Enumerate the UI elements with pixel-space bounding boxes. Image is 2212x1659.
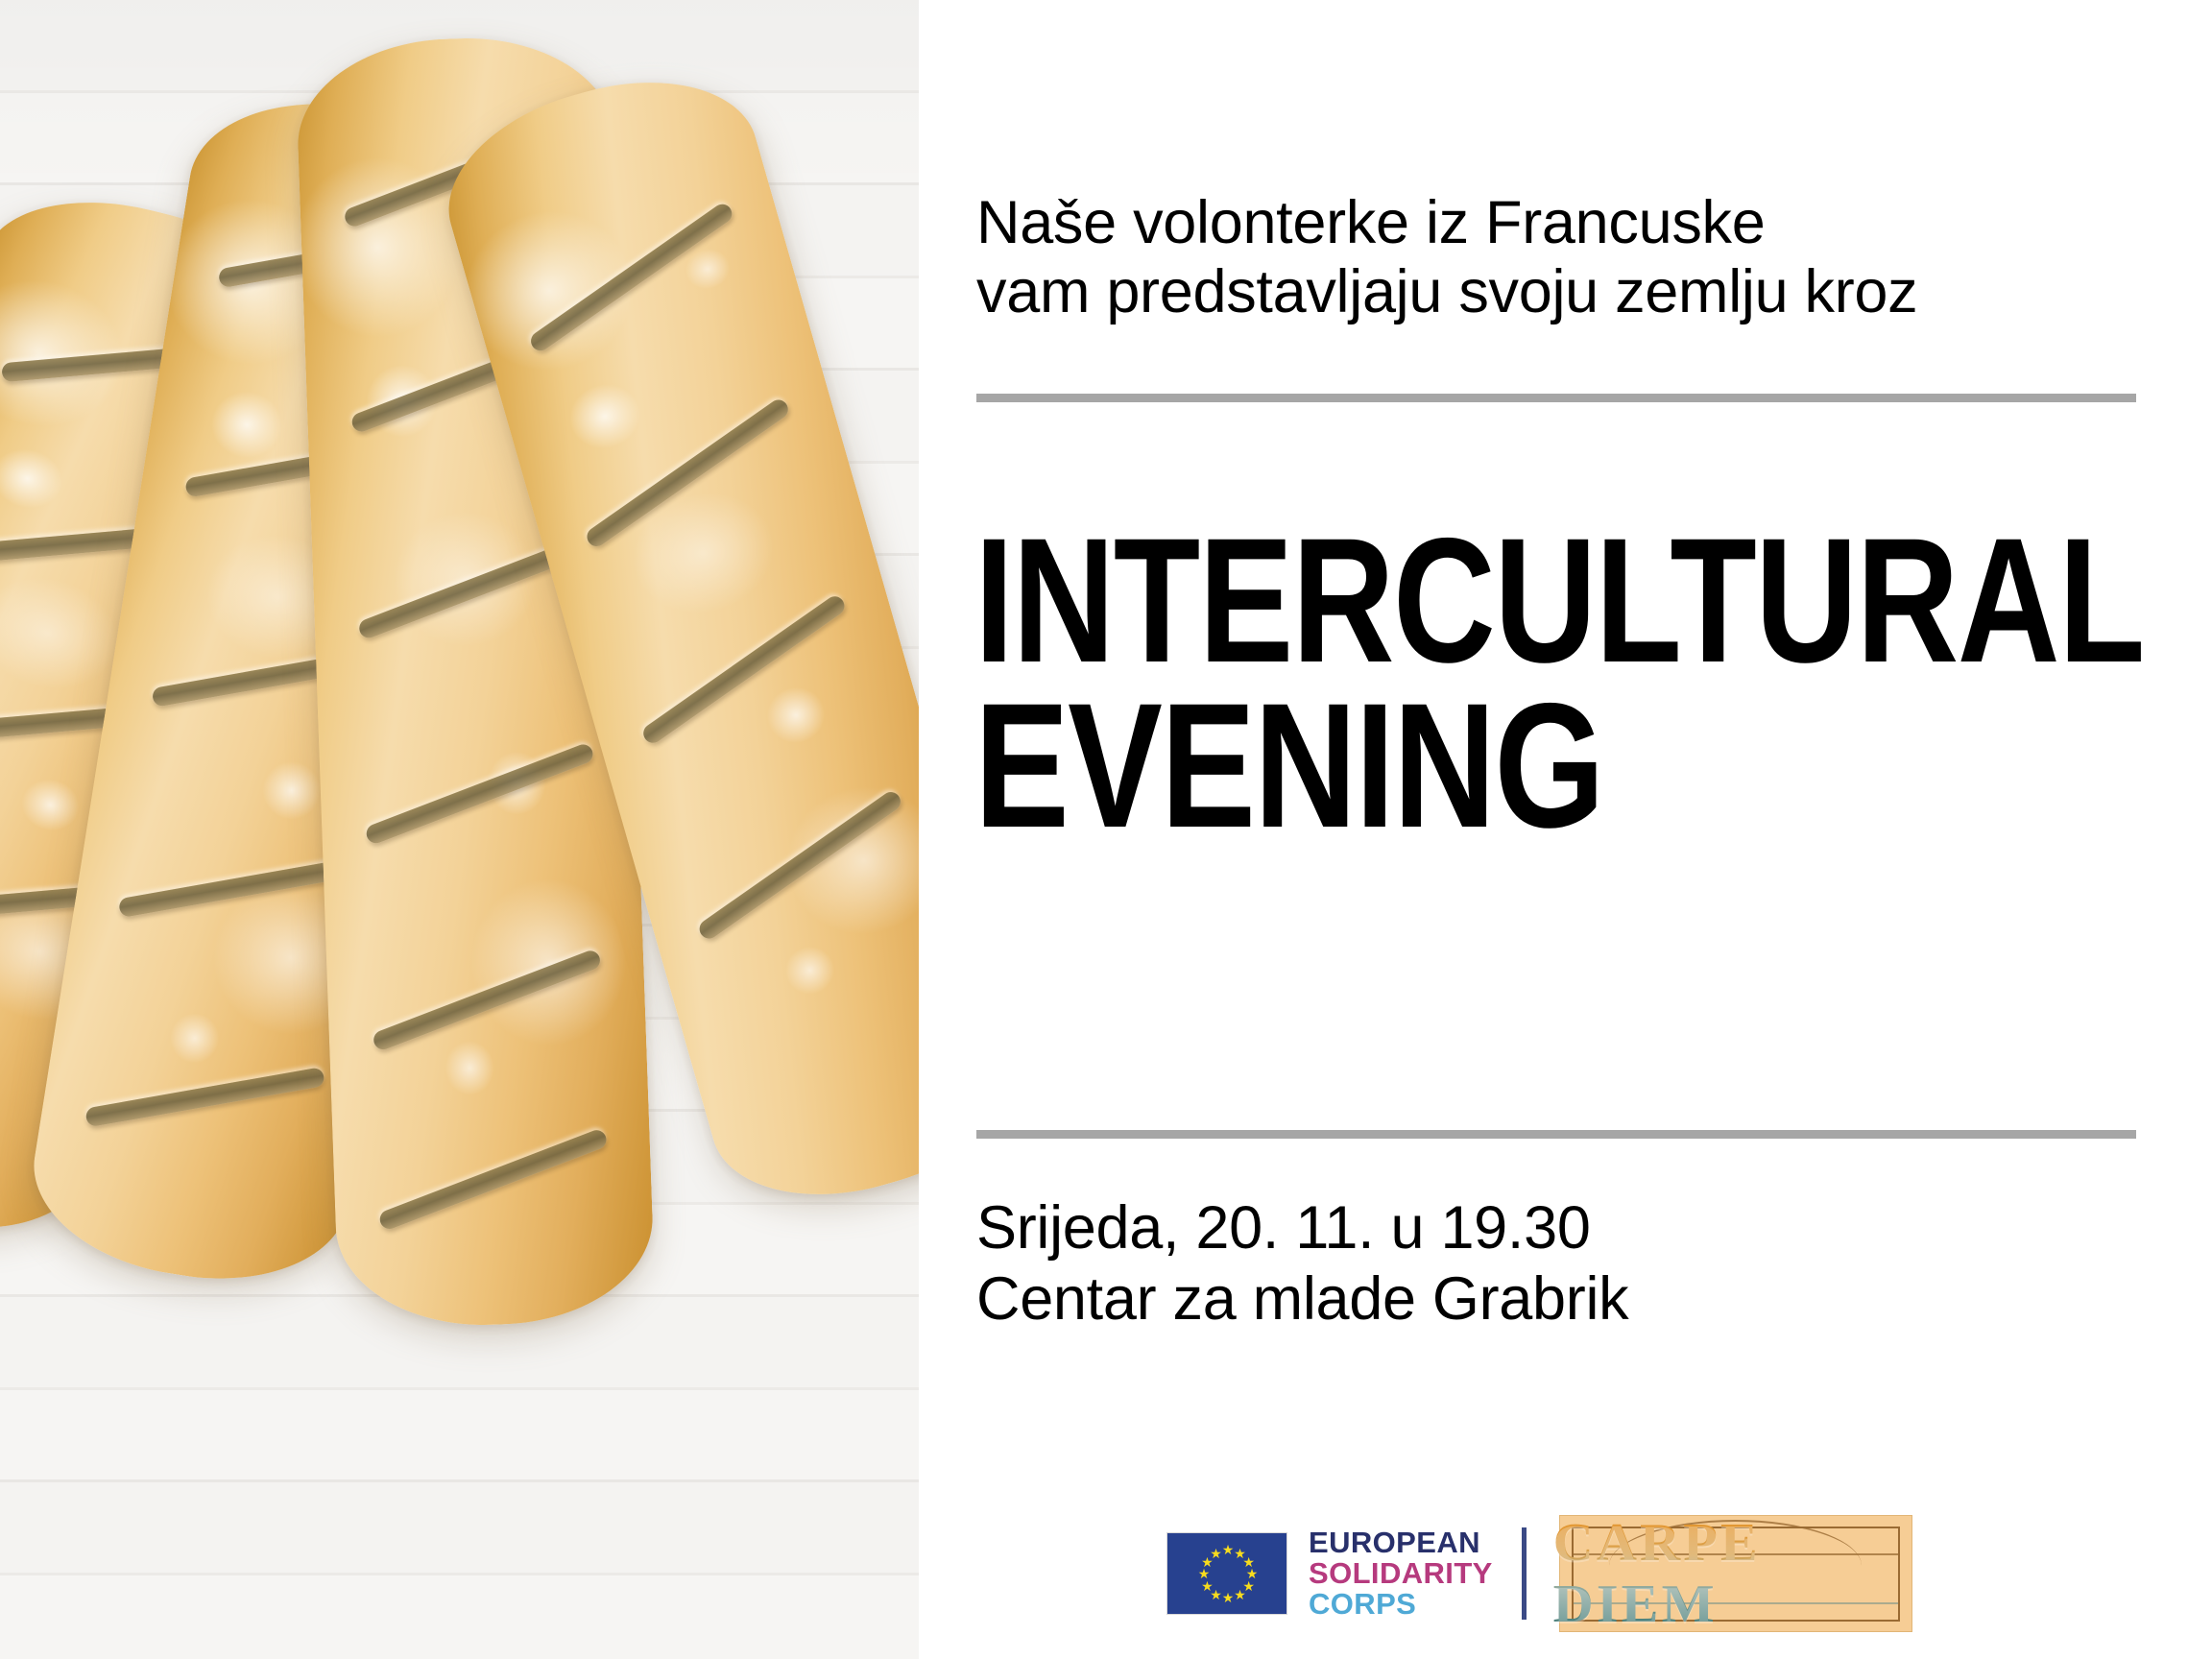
event-datetime: Srijeda, 20. 11. u 19.30	[976, 1192, 1628, 1263]
carpe-diem-wordmark: CARPE DIEM	[1552, 1512, 1918, 1635]
carpe-diem-logo: CARPE DIEM	[1559, 1515, 1912, 1632]
eu-flag-icon: ★★★★★★★★★★★★	[1166, 1532, 1287, 1615]
baguette-photo	[0, 0, 919, 1659]
eu-star-icon: ★	[1222, 1592, 1235, 1604]
headline-line-1: INTERCULTURAL	[974, 518, 1919, 684]
intro-line-2: vam predstavljaju svoju zemlju kroz	[976, 257, 2143, 326]
esc-line-1: EUROPEAN	[1309, 1527, 1493, 1558]
eu-star-icon: ★	[1201, 1580, 1214, 1593]
esc-line-3: CORPS	[1309, 1589, 1493, 1620]
logo-separator	[1522, 1527, 1527, 1620]
headline-line-2: EVENING	[974, 684, 1919, 849]
event-details: Srijeda, 20. 11. u 19.30 Centar za mlade…	[976, 1192, 1628, 1335]
divider-top	[976, 394, 2136, 402]
eu-star-icon: ★	[1210, 1548, 1222, 1560]
event-location: Centar za mlade Grabrik	[976, 1263, 1628, 1334]
european-solidarity-corps-logo: ★★★★★★★★★★★★ EUROPEAN SOLIDARITY CORPS	[1166, 1527, 1493, 1620]
poster-canvas: Naše volonterke iz Francuske vam predsta…	[0, 0, 2212, 1659]
eu-star-icon: ★	[1222, 1544, 1235, 1556]
esc-wordmark: EUROPEAN SOLIDARITY CORPS	[1309, 1527, 1493, 1620]
logo-row: ★★★★★★★★★★★★ EUROPEAN SOLIDARITY CORPS C…	[1166, 1515, 1912, 1632]
headline: INTERCULTURAL EVENING	[974, 518, 2155, 849]
esc-line-2: SOLIDARITY	[1309, 1558, 1493, 1589]
divider-bottom	[976, 1130, 2136, 1139]
intro-line-1: Naše volonterke iz Francuske	[976, 188, 2143, 257]
eu-star-icon: ★	[1234, 1589, 1246, 1601]
content-panel: Naše volonterke iz Francuske vam predsta…	[919, 0, 2212, 1659]
intro-text: Naše volonterke iz Francuske vam predsta…	[976, 188, 2143, 327]
eu-star-icon: ★	[1198, 1568, 1211, 1580]
